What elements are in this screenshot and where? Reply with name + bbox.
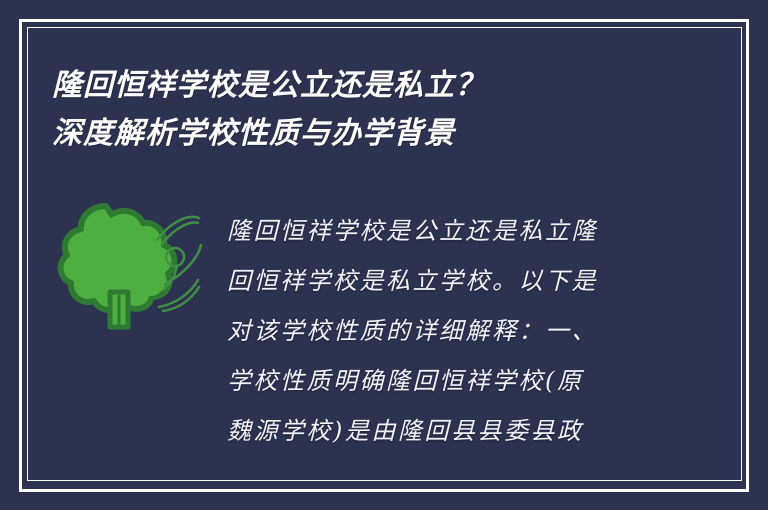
body-line-4: 学校性质明确隆回恒祥学校(原 [227,356,647,406]
title-line-1: 隆回恒祥学校是公立还是私立？ [52,62,652,110]
title-line-2: 深度解析学校性质与办学背景 [52,110,652,158]
poster-canvas: 隆回恒祥学校是公立还是私立？ 深度解析学校性质与办学背景 [0,0,768,510]
broccoli-tree-illustration [44,192,214,357]
broccoli-stem-icon [110,292,128,327]
body-line-1: 隆回恒祥学校是公立还是私立隆 [227,206,647,256]
body-line-5: 魏源学校)是由隆回县县委县政 [227,406,647,456]
body-line-2: 回恒祥学校是私立学校。以下是 [227,256,647,306]
page-title: 隆回恒祥学校是公立还是私立？ 深度解析学校性质与办学背景 [52,62,652,158]
article-body: 隆回恒祥学校是公立还是私立隆 回恒祥学校是私立学校。以下是 对该学校性质的详细解… [227,206,647,456]
body-line-3: 对该学校性质的详细解释：一、 [227,306,647,356]
